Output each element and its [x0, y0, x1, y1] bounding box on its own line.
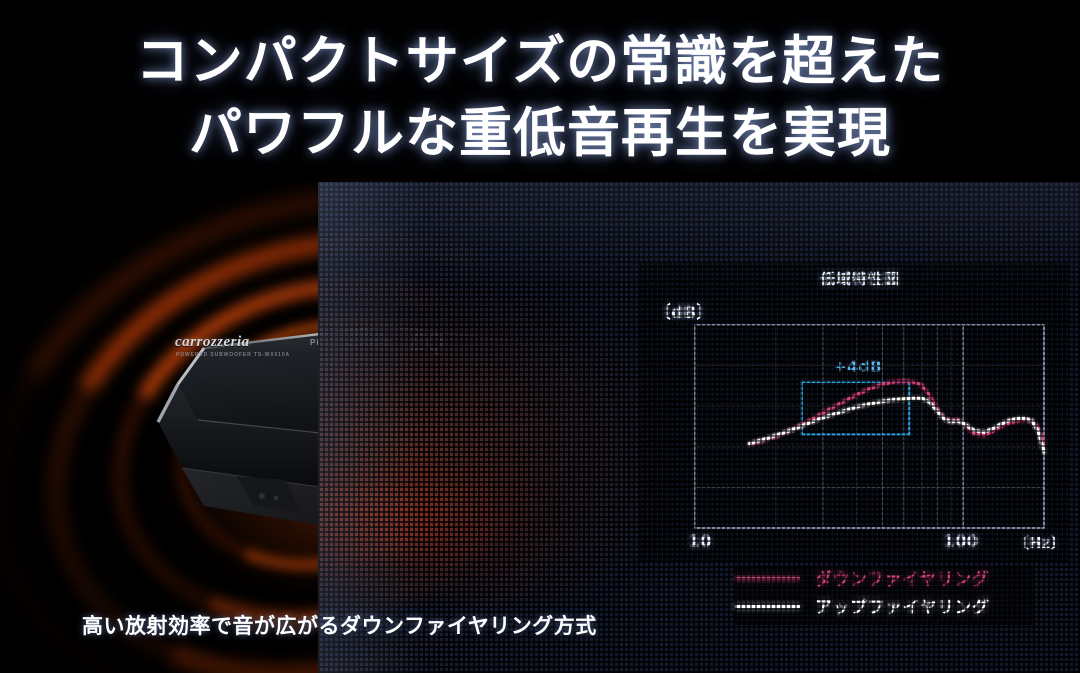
- device-chrome-left: [158, 384, 178, 422]
- device-foot: [236, 476, 300, 512]
- device-chrome-corner-left: [178, 348, 204, 384]
- led-matrix-panel: [318, 182, 1080, 673]
- led-panel-tint: [318, 182, 1080, 673]
- brand-logo: carrozzeria: [175, 334, 250, 351]
- device-screw: [259, 493, 265, 499]
- device-screw-2: [274, 496, 279, 501]
- model-line: POWERED SUBWOOFER TS-WX010A: [176, 352, 290, 358]
- promo-slide: carrozzeria Pioneer POWERED SUBWOOFER TS…: [0, 0, 1080, 673]
